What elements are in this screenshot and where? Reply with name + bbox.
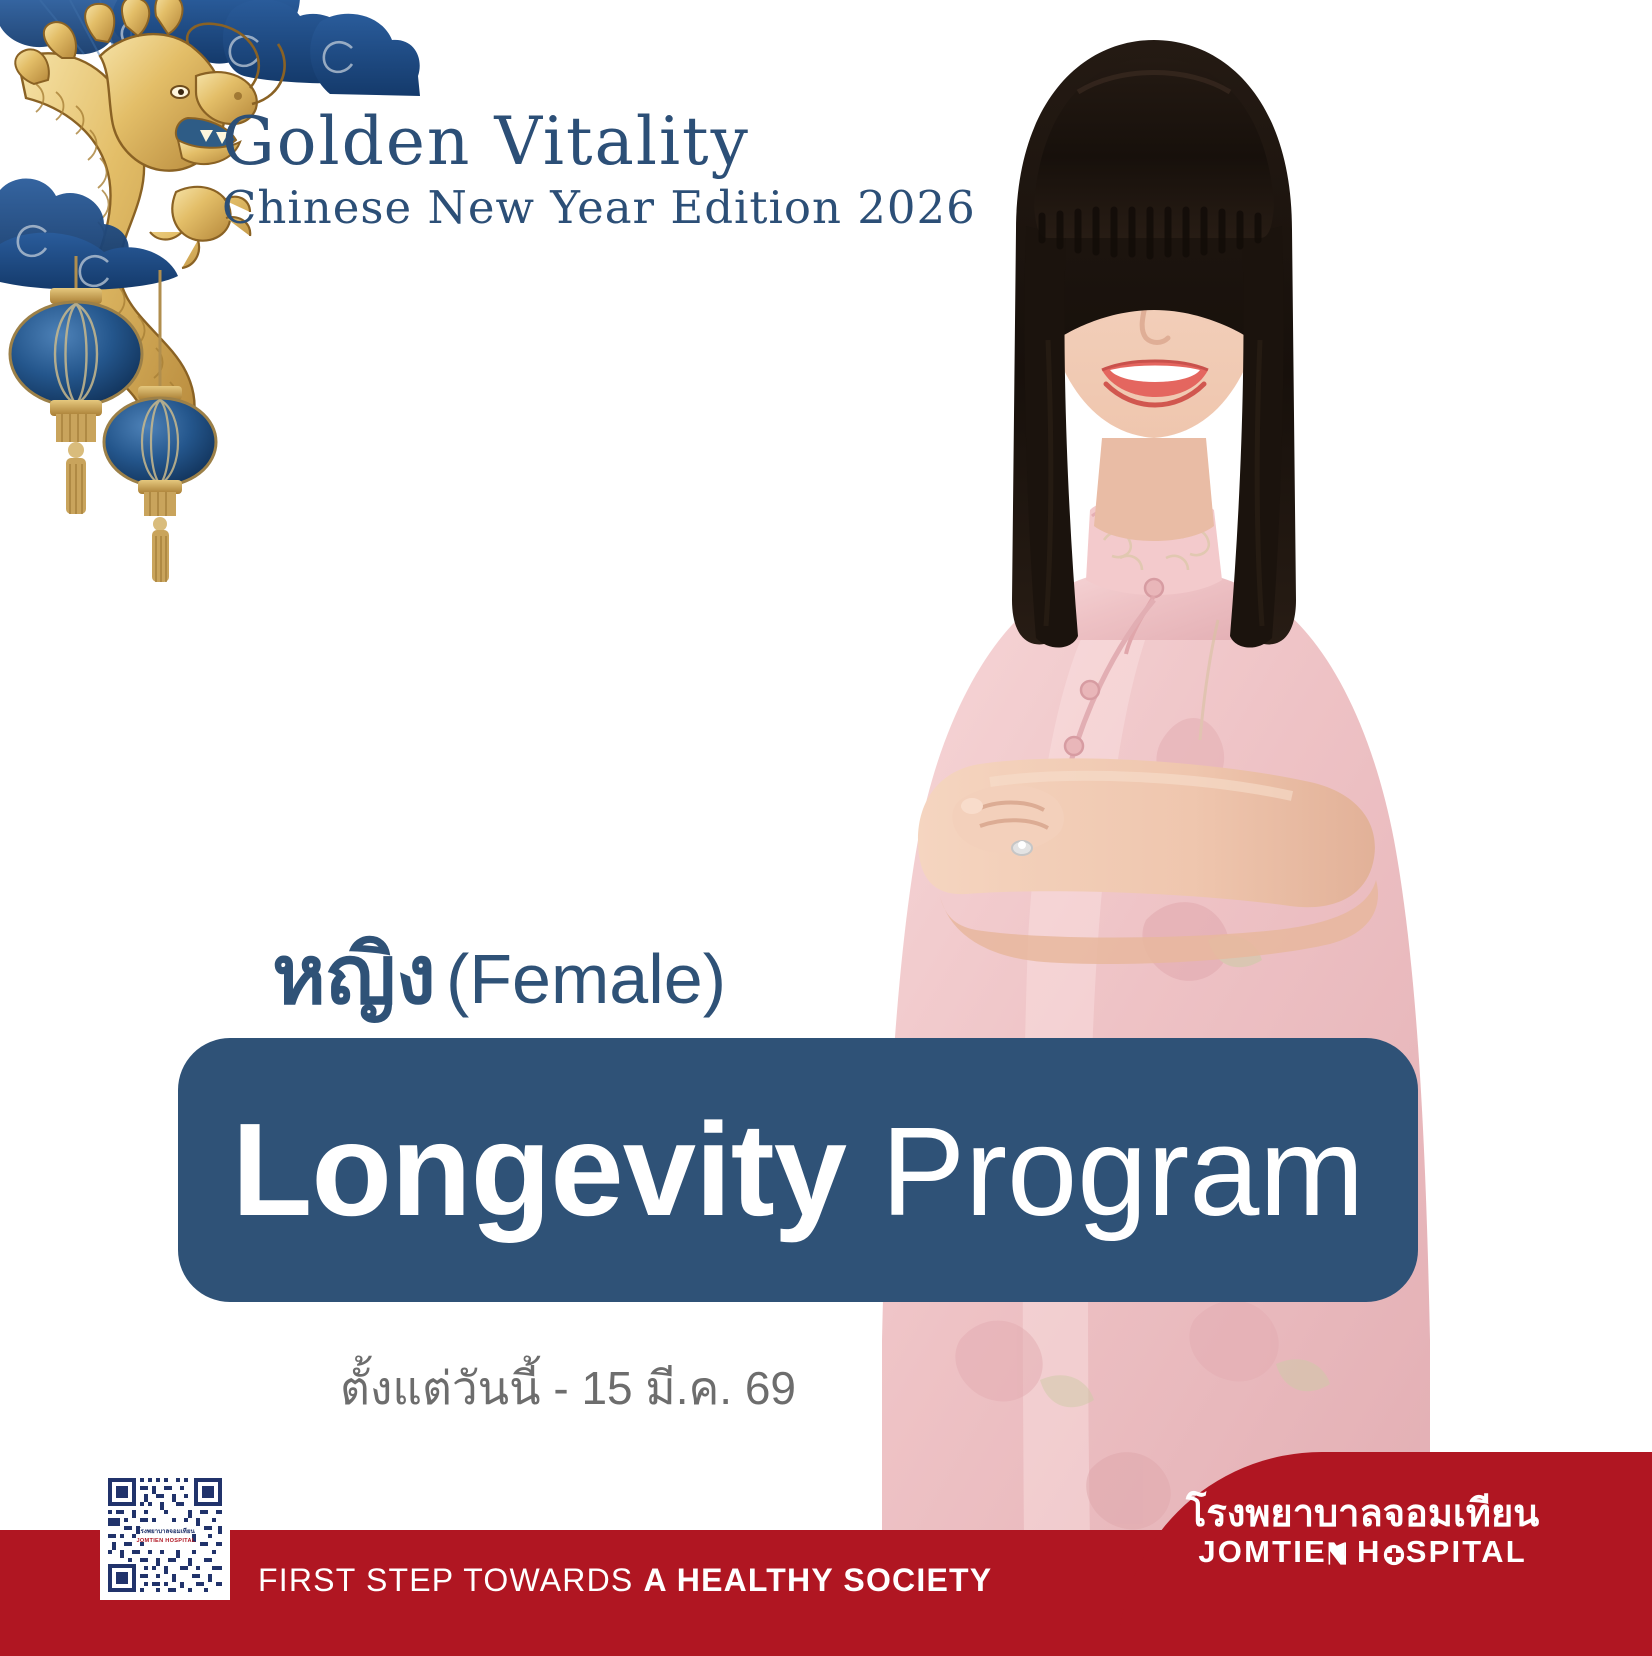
logo-text-before: JOMTIE [1198,1534,1327,1569]
dragon-whiskers [187,24,284,104]
program-title-strong: Longevity [232,1096,846,1243]
gender-label: หญิง(Female) [272,935,726,1017]
hospital-logo: โรงพยาบาลจอมเทียน JOMTIE H SPITAL [1186,1494,1539,1570]
promotion-period: ตั้งแต่วันนี้ - 15 มี.ค. 69 [340,1352,796,1425]
logo-cross-o-icon [1382,1535,1406,1570]
lower-cloud [0,179,178,290]
page-subtitle: Chinese New Year Edition 2026 [222,181,982,234]
page-title: Golden Vitality [222,108,982,175]
hospital-name-thai: โรงพยาบาลจอมเทียน [1186,1494,1539,1535]
footer-tagline: FIRST STEP TOWARDS A HEALTHY SOCIETY [258,1562,992,1599]
dragon-mane [15,0,182,84]
program-title: Longevity Program [232,1104,1365,1236]
logo-text-after: H [1346,1534,1381,1569]
tagline-bold-part: A HEALTHY SOCIETY [644,1562,993,1598]
tagline-light-part: FIRST STEP TOWARDS [258,1562,644,1598]
hospital-name-english: JOMTIE H SPITAL [1186,1535,1539,1570]
lantern-right [104,270,216,582]
program-title-light: Program [846,1101,1364,1242]
dragon-body [18,53,195,473]
poster-canvas: Golden Vitality Chinese New Year Edition… [0,0,1652,1656]
gender-thai: หญิง [272,930,436,1021]
golden-dragon [15,0,284,474]
qr-center-english-label: JOMTIEN HOSPITAL [136,1538,195,1544]
frog-button [1145,579,1163,597]
gender-english: (Female) [446,940,726,1018]
qr-code-image[interactable]: โรงพยาบาลจอมเทียน JOMTIEN HOSPITAL [104,1474,226,1596]
program-banner: Longevity Program [178,1038,1418,1302]
fan-rays [40,0,132,58]
headline-block: Golden Vitality Chinese New Year Edition… [222,108,982,234]
dragon-head [100,34,225,171]
qr-center-thai-label: โรงพยาบาลจอมเทียน [136,1527,195,1535]
cloud-band [0,0,420,96]
lantern-left [10,256,142,514]
neck [1094,438,1214,541]
logo-text-tail: SPITAL [1406,1534,1527,1569]
logo-arrow-n-icon [1327,1535,1346,1570]
dragon-scales [36,84,177,412]
model-photo [790,40,1510,1540]
qr-code-card[interactable]: โรงพยาบาลจอมเทียน JOMTIEN HOSPITAL [100,1470,230,1600]
